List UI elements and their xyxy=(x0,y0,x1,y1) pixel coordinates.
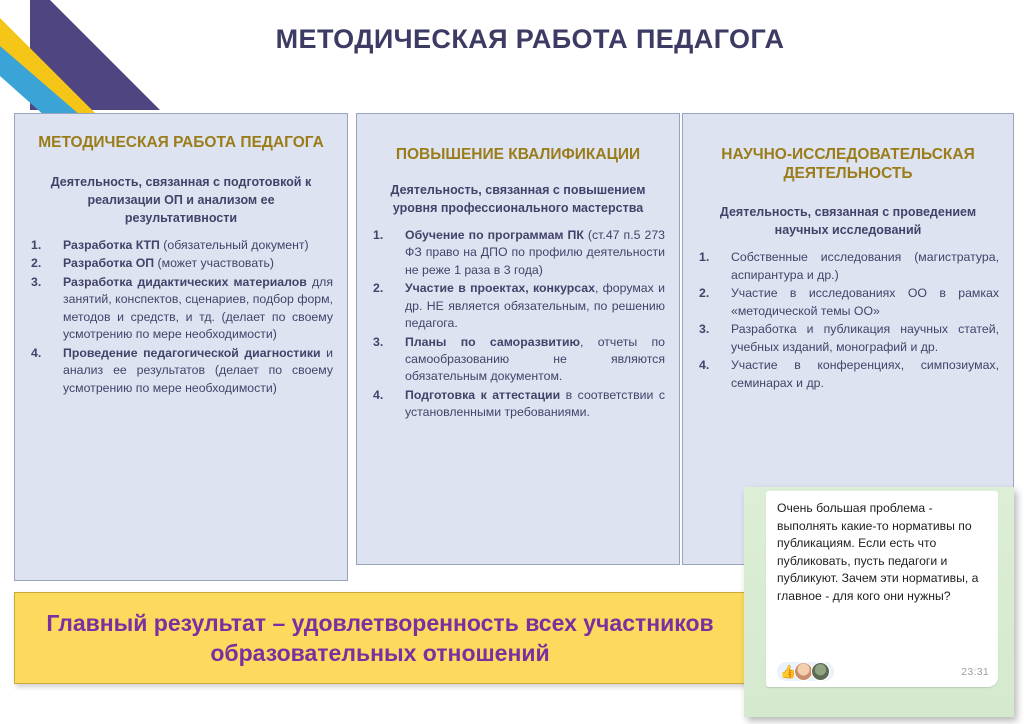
list-item-number: 2. xyxy=(373,280,395,297)
result-banner: Главный результат – удовлетворенность вс… xyxy=(14,592,746,684)
list-item-text: Участие в конференциях, симпозиумах, сем… xyxy=(731,358,999,389)
list-item: 4.Участие в конференциях, симпозиумах, с… xyxy=(697,357,999,392)
list-item-number: 3. xyxy=(373,334,395,351)
result-banner-text: Главный результат – удовлетворенность вс… xyxy=(15,608,745,669)
list-item-number: 4. xyxy=(373,387,395,404)
list-item-text: Собственные исследования (магистратура, … xyxy=(731,250,999,281)
list-item: 4.Подготовка к аттестации в соответствии… xyxy=(371,387,665,422)
reaction-pill[interactable]: 👍 xyxy=(777,662,834,681)
list-item-bold: Разработка КТП xyxy=(63,238,160,252)
list-item-number: 1. xyxy=(31,237,53,254)
list-item: 2.Участие в проектах, конкурсах, форумах… xyxy=(371,280,665,332)
panel-heading: ПОВЫШЕНИЕ КВАЛИФИКАЦИИ xyxy=(371,146,665,165)
list-item-bold: Разработка дидактических материалов xyxy=(63,275,307,289)
chat-bubble-footer: 👍 23:31 xyxy=(777,662,989,681)
list-item: 3.Разработка дидактических материалов дл… xyxy=(29,274,333,344)
list-item-text: Разработка и публикация научных статей, … xyxy=(731,322,999,353)
panel-subtitle: Деятельность, связанная с повышением уро… xyxy=(375,181,661,217)
list-item: 1.Собственные исследования (магистратура… xyxy=(697,249,999,284)
chat-timestamp: 23:31 xyxy=(961,666,989,678)
panel-list: 1.Собственные исследования (магистратура… xyxy=(697,249,999,392)
list-item-number: 2. xyxy=(31,255,53,272)
avatar xyxy=(811,662,830,681)
panel-list: 1.Разработка КТП (обязательный документ)… xyxy=(29,237,333,397)
panel-subtitle: Деятельность, связанная с проведением на… xyxy=(701,203,995,239)
list-item-text: Участие в исследованиях ОО в рамках «мет… xyxy=(731,286,999,317)
page-title: МЕТОДИЧЕСКАЯ РАБОТА ПЕДАГОГА xyxy=(180,24,880,55)
panel-methodical-work: МЕТОДИЧЕСКАЯ РАБОТА ПЕДАГОГА Деятельност… xyxy=(14,113,348,581)
list-item: 1.Обучение по программам ПК (ст.47 п.5 2… xyxy=(371,227,665,279)
list-item-number: 3. xyxy=(699,321,721,338)
panel-list: 1.Обучение по программам ПК (ст.47 п.5 2… xyxy=(371,227,665,422)
list-item: 3.Планы по саморазвитию, отчеты по самоо… xyxy=(371,334,665,386)
list-item-number: 4. xyxy=(699,357,721,374)
chat-message-text: Очень большая проблема - выполнять какие… xyxy=(777,500,987,605)
list-item-number: 4. xyxy=(31,345,53,362)
list-item-number: 3. xyxy=(31,274,53,291)
list-item: 2.Участие в исследованиях ОО в рамках «м… xyxy=(697,285,999,320)
list-item-text: (может участвовать) xyxy=(154,256,274,270)
list-item-bold: Планы по саморазвитию xyxy=(405,335,580,349)
chat-screenshot-overlay: Очень большая проблема - выполнять какие… xyxy=(744,487,1014,717)
chat-message-bubble: Очень большая проблема - выполнять какие… xyxy=(766,491,998,687)
panel-heading: НАУЧНО-ИССЛЕДОВАТЕЛЬСКАЯ ДЕЯТЕЛЬНОСТЬ xyxy=(697,146,999,183)
list-item-bold: Участие в проектах, конкурсах xyxy=(405,281,595,295)
list-item: 3.Разработка и публикация научных статей… xyxy=(697,321,999,356)
list-item-number: 1. xyxy=(699,249,721,266)
list-item: 4.Проведение педагогической диагностики … xyxy=(29,345,333,397)
panel-heading: МЕТОДИЧЕСКАЯ РАБОТА ПЕДАГОГА xyxy=(29,134,333,153)
list-item-number: 2. xyxy=(699,285,721,302)
list-item-text: (обязательный документ) xyxy=(160,238,309,252)
list-item-bold: Разработка ОП xyxy=(63,256,154,270)
panel-qualification-upgrade: ПОВЫШЕНИЕ КВАЛИФИКАЦИИ Деятельность, свя… xyxy=(356,113,680,565)
panel-subtitle: Деятельность, связанная с подготовкой к … xyxy=(33,173,329,227)
list-item: 2.Разработка ОП (может участвовать) xyxy=(29,255,333,272)
list-item-bold: Подготовка к аттестации xyxy=(405,388,560,402)
purple-triangle-shape xyxy=(30,0,160,110)
list-item-bold: Проведение педагогической диагностики xyxy=(63,346,321,360)
list-item: 1.Разработка КТП (обязательный документ) xyxy=(29,237,333,254)
list-item-number: 1. xyxy=(373,227,395,244)
list-item-bold: Обучение по программам ПК xyxy=(405,228,584,242)
